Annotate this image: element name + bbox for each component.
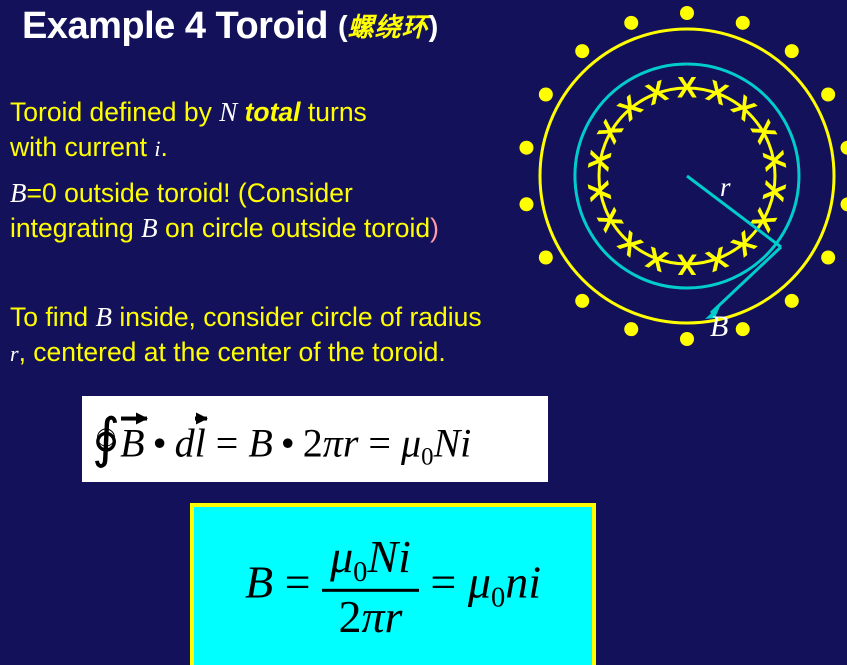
fraction-mu0Ni-over-2pir: μ0Ni2πr xyxy=(322,533,419,641)
vector-B: B xyxy=(120,420,144,467)
para1-text-1: Toroid defined by xyxy=(10,97,219,127)
current-into-page-cross: X xyxy=(677,72,697,105)
para3-variable-B: B xyxy=(95,302,112,332)
eq1-mu: μ xyxy=(401,421,421,466)
eq2-num-N: N xyxy=(367,531,398,582)
eq1-pi: π xyxy=(323,421,343,466)
current-out-of-page-dot xyxy=(539,88,553,102)
para2-variable-B-1: B xyxy=(10,178,27,208)
eq2-num-i: i xyxy=(398,531,411,582)
equation-toroid-field: B = μ0Ni2πr = μ0ni xyxy=(194,533,592,641)
equation-amperes-law: ∮B • dl = B • 2πr = μ0Ni xyxy=(92,407,471,472)
eq2-equals-1: = xyxy=(285,557,311,608)
current-into-page-cross: X xyxy=(677,248,697,281)
current-into-page-cross: X xyxy=(702,74,732,112)
vector-l: l xyxy=(195,420,206,467)
para2-paren-close: ) xyxy=(430,213,439,243)
eq2-den-r: r xyxy=(385,591,403,642)
current-out-of-page-dot xyxy=(841,197,847,211)
current-into-page-cross: X xyxy=(756,179,792,204)
toroid-svg: XXXXXXXXXXXXXXXXXX xyxy=(505,0,847,370)
eq1-two: 2 xyxy=(303,421,323,466)
equation-box-result: B = μ0Ni2πr = μ0ni xyxy=(190,503,596,665)
current-out-of-page-dot xyxy=(821,88,835,102)
current-out-of-page-dot xyxy=(736,16,750,30)
eq2-rhs-mu-subscript: 0 xyxy=(491,583,505,614)
eq2-rhs-mu: μ xyxy=(468,557,491,608)
eq1-dot-2: • xyxy=(281,421,295,466)
current-out-of-page-dot xyxy=(785,294,799,308)
current-out-of-page-dot xyxy=(519,197,533,211)
para1-variable-N: N xyxy=(219,97,237,127)
eq1-d: d xyxy=(175,421,195,466)
title-paren-open: ( xyxy=(338,11,348,43)
current-out-of-page-dot xyxy=(736,322,750,336)
current-out-of-page-dot xyxy=(821,251,835,265)
title-cjk-text: 螺绕环 xyxy=(348,13,429,43)
current-out-of-page-dot xyxy=(680,332,694,346)
current-out-of-page-dot xyxy=(624,322,638,336)
title-main-text: Example 4 Toroid xyxy=(22,5,338,47)
fraction-numerator: μ0Ni xyxy=(322,533,419,589)
body-paragraph-2: B=0 outside toroid! (Consider integratin… xyxy=(10,176,510,246)
eq2-num-mu: μ xyxy=(330,531,353,582)
para3-text-2: inside, consider circle of radius xyxy=(112,302,482,332)
current-into-page-cross: X xyxy=(642,240,672,278)
current-into-page-cross: X xyxy=(582,179,618,204)
current-out-of-page-dot xyxy=(624,16,638,30)
eq1-i: i xyxy=(460,421,471,466)
eq2-den-pi: π xyxy=(362,591,385,642)
current-into-page-cross: X xyxy=(591,115,630,149)
figure-label-B: B xyxy=(710,310,728,344)
current-out-of-page-dot xyxy=(680,6,694,20)
eq1-equals-1: = xyxy=(216,421,239,466)
vector-arrow-icon xyxy=(121,417,146,421)
para3-text-1: To find xyxy=(10,302,95,332)
eq1-mu-subscript: 0 xyxy=(421,443,433,470)
figure-label-r: r xyxy=(720,172,731,203)
body-paragraph-1: Toroid defined by N total turns with cur… xyxy=(10,95,480,166)
para1-emphasis-total: total xyxy=(245,97,301,127)
para2-variable-B-2: B xyxy=(141,213,158,243)
slide-canvas: Example 4 Toroid (螺绕环) Toroid defined by… xyxy=(0,0,847,665)
current-into-page-cross: X xyxy=(582,148,618,173)
current-out-of-page-dot xyxy=(575,44,589,58)
title-paren-close: ) xyxy=(429,11,439,43)
current-out-of-page-dot xyxy=(841,141,847,155)
current-into-page-cross: X xyxy=(642,74,672,112)
para2-text-2: on circle outside toroid xyxy=(158,213,431,243)
page-title: Example 4 Toroid (螺绕环) xyxy=(22,5,438,48)
current-out-of-page-dot xyxy=(785,44,799,58)
eq2-num-mu-subscript: 0 xyxy=(353,557,367,588)
para3-text-3: , centered at the center of the toroid. xyxy=(19,337,446,367)
eq1-r: r xyxy=(343,421,359,466)
para3-variable-r: r xyxy=(10,341,19,366)
contour-loop-ring xyxy=(97,428,115,446)
equation-box-amperes-law: ∮B • dl = B • 2πr = μ0Ni xyxy=(82,396,548,482)
toroid-diagram: XXXXXXXXXXXXXXXXXX r B xyxy=(505,0,847,370)
current-into-page-cross: X xyxy=(744,115,783,149)
contour-integral-icon: ∮ xyxy=(92,407,120,470)
eq2-rhs-n: n xyxy=(505,557,528,608)
eq2-equals-2: = xyxy=(430,557,456,608)
current-out-of-page-dot xyxy=(519,141,533,155)
current-into-page-cross: X xyxy=(756,148,792,173)
current-into-page-cross: X xyxy=(591,203,630,237)
fraction-denominator: 2πr xyxy=(322,592,419,641)
para1-text-4: . xyxy=(160,132,167,162)
eq1-B: B xyxy=(248,421,272,466)
current-out-of-page-dot xyxy=(539,251,553,265)
eq2-den-two: 2 xyxy=(339,591,362,642)
eq2-rhs-i: i xyxy=(528,557,541,608)
eq1-equals-2: = xyxy=(368,421,391,466)
eq1-N: N xyxy=(433,421,460,466)
eq1-dot-1: • xyxy=(153,421,167,466)
eq2-B: B xyxy=(245,557,273,608)
para1-text-2 xyxy=(237,97,244,127)
vector-arrow-icon xyxy=(195,417,207,421)
current-into-page-cross: X xyxy=(702,240,732,278)
current-out-of-page-dot xyxy=(575,294,589,308)
